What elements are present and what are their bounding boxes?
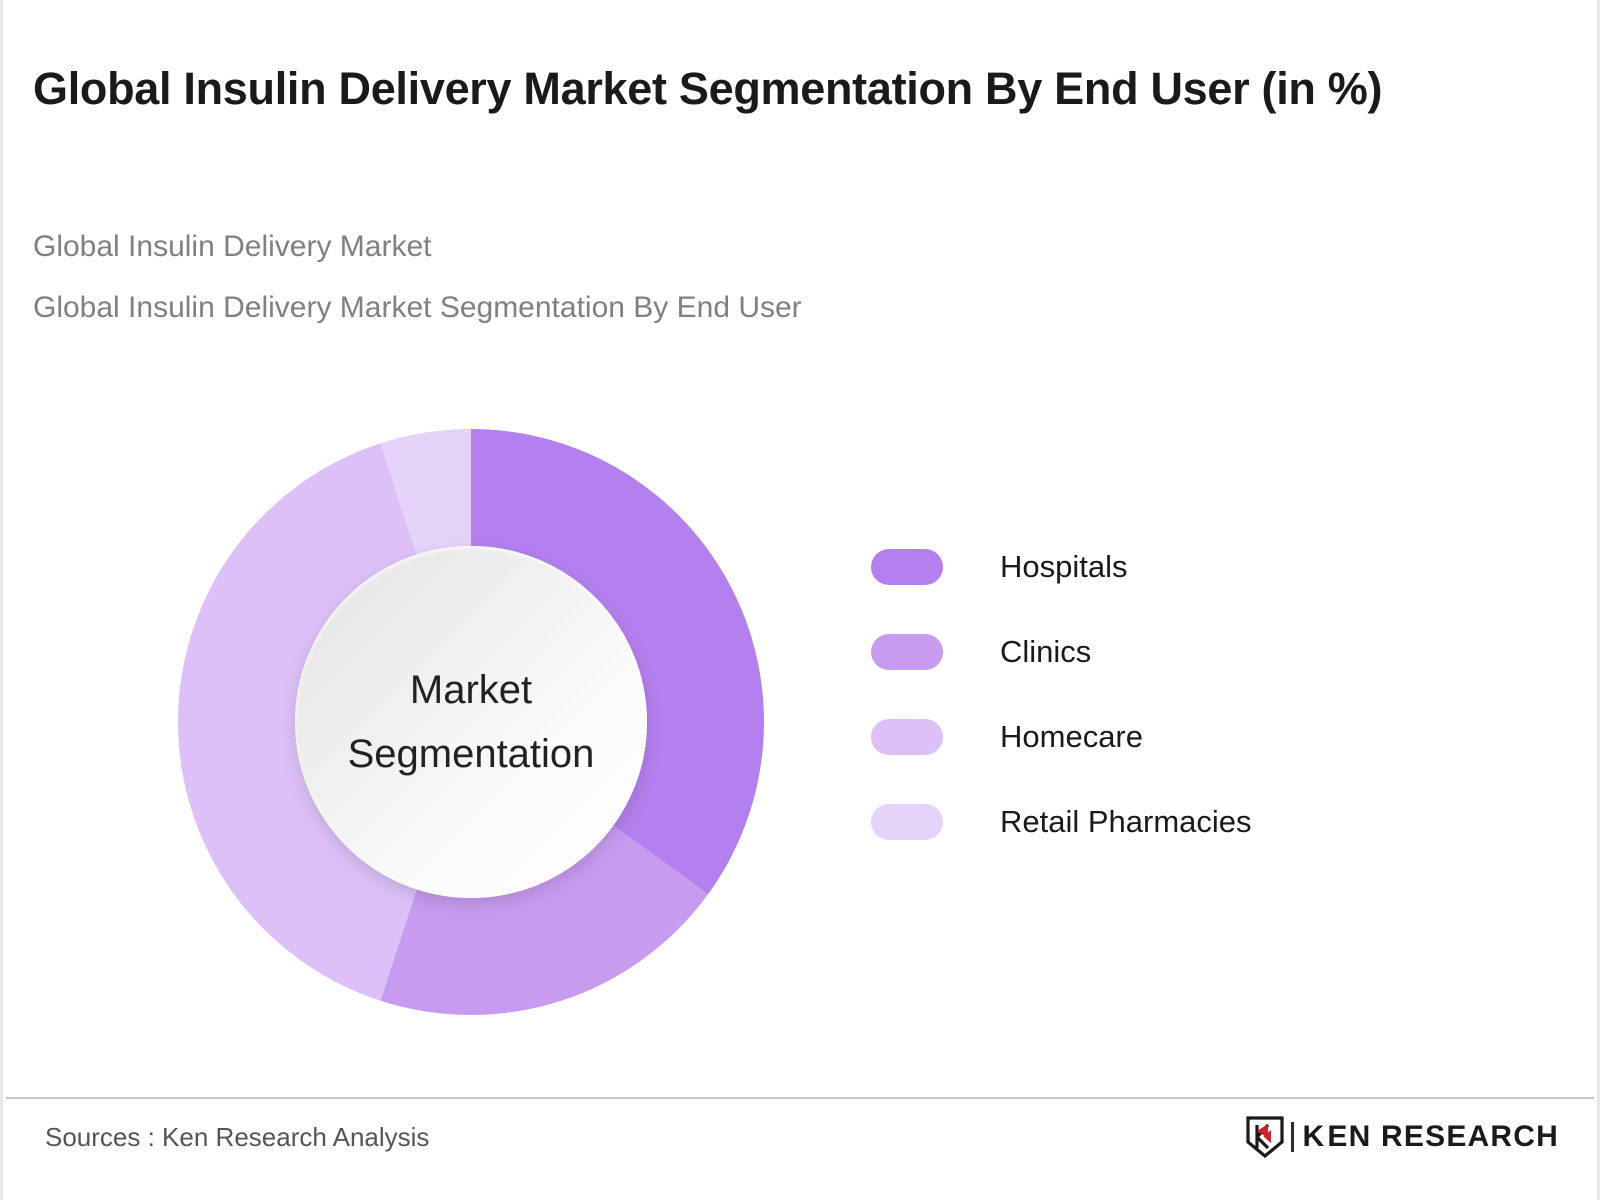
brand-rest: EN RESEARCH (1327, 1120, 1559, 1154)
legend-item-hospitals[interactable]: Hospitals (871, 524, 1431, 609)
subtitle-segmentation: Global Insulin Delivery Market Segmentat… (33, 293, 802, 323)
legend-swatch-icon (871, 719, 943, 755)
chart-page: Global Insulin Delivery Market Segmentat… (0, 0, 1600, 1200)
legend-item-clinics[interactable]: Clinics (871, 609, 1431, 694)
header: Global Insulin Delivery Market Segmentat… (33, 58, 1523, 120)
donut-center-line-1: Market (410, 658, 532, 722)
legend-item-homecare[interactable]: Homecare (871, 694, 1431, 779)
donut-chart: Market Segmentation (173, 424, 769, 1020)
legend-swatch-icon (871, 804, 943, 840)
page-title: Global Insulin Delivery Market Segmentat… (33, 58, 1493, 120)
legend-label: Retail Pharmacies (1000, 804, 1252, 840)
legend-swatch-icon (871, 634, 943, 670)
ken-research-logo: K EN RESEARCH (1246, 1115, 1559, 1159)
sources-text: Sources : Ken Research Analysis (45, 1122, 429, 1153)
legend-label: Hospitals (1000, 549, 1128, 585)
legend-label: Clinics (1000, 634, 1091, 670)
brand-red-triangle-icon (1257, 1124, 1268, 1138)
donut-center-line-2: Segmentation (348, 722, 595, 786)
legend-label: Homecare (1000, 719, 1143, 755)
footer-divider (6, 1097, 1594, 1099)
donut-center-hole: Market Segmentation (295, 546, 647, 898)
logo-divider (1291, 1122, 1294, 1152)
brand-name: K EN RESEARCH (1303, 1120, 1559, 1154)
chart-legend: Hospitals Clinics Homecare Retail Pharma… (871, 524, 1431, 864)
legend-swatch-icon (871, 549, 943, 585)
subtitle-market-name: Global Insulin Delivery Market (33, 232, 431, 262)
brand-letter-k: K (1303, 1120, 1326, 1154)
legend-item-retail-pharmacies[interactable]: Retail Pharmacies (871, 779, 1431, 864)
